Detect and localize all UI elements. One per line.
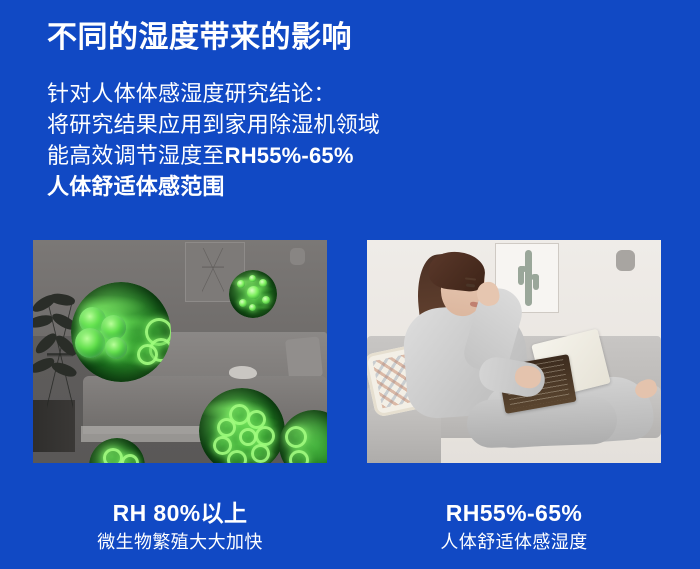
dim-sofa-accent-pillow [229,366,257,379]
photo-high-humidity-scene [33,240,327,463]
photo-high-humidity [33,240,327,463]
microbe-ring [289,450,309,463]
caption-title: RH 80%以上 [33,498,327,528]
microbe-dot [249,275,256,282]
microbe-ring [137,344,158,365]
microbe-ring [285,426,307,448]
microbe-ring [255,426,275,446]
body-line-4: 人体舒适体感范围 [47,171,517,202]
poster-root: 不同的湿度带来的影响 针对人体体感湿度研究结论： 将研究结果应用到家用除湿机领域… [0,0,700,569]
microbe-ring [103,448,123,463]
body-line-3-highlight: RH55%-65% [225,143,354,168]
microbe-ring [227,450,247,463]
body-line-2: 将研究结果应用到家用除湿机领域 [47,109,517,140]
caption-title: RH55%-65% [367,498,661,528]
microbe-dot [259,279,267,287]
wall-knob-icon [290,248,305,265]
microbe-dot [239,299,247,307]
photo-comfort-humidity [367,240,661,463]
microbe-blob [75,328,105,358]
microbe-sphere-small-top [229,270,277,318]
microbe-dot [249,304,256,311]
photo-comfort-humidity-scene [367,240,661,463]
body-line-1: 针对人体体感湿度研究结论： [47,78,517,109]
microbe-dot [262,296,270,304]
dim-sofa-cushion [285,336,323,379]
caption-comfort-humidity: RH55%-65% 人体舒适体感湿度 [367,498,661,556]
wall-knob-icon [616,250,635,271]
microbe-ring [239,428,257,446]
page-title: 不同的湿度带来的影响 [47,17,352,59]
caption-subtitle: 微生物繁殖大大加快 [33,528,327,556]
microbe-sphere-large [71,282,171,382]
caption-subtitle: 人体舒适体感湿度 [367,528,661,556]
body-line-3-prefix: 能高效调节湿度至 [47,143,225,168]
cactus-icon [518,250,538,306]
microbe-ring [217,418,236,437]
microbe-dot [247,286,260,299]
body-line-3: 能高效调节湿度至RH55%-65% [47,140,517,171]
microbe-blob [105,337,127,359]
microbe-dot [237,280,245,288]
body-copy: 针对人体体感湿度研究结论： 将研究结果应用到家用除湿机领域 能高效调节湿度至RH… [47,78,517,202]
caption-high-humidity: RH 80%以上 微生物繁殖大大加快 [33,498,327,556]
microbe-ring [251,444,270,463]
